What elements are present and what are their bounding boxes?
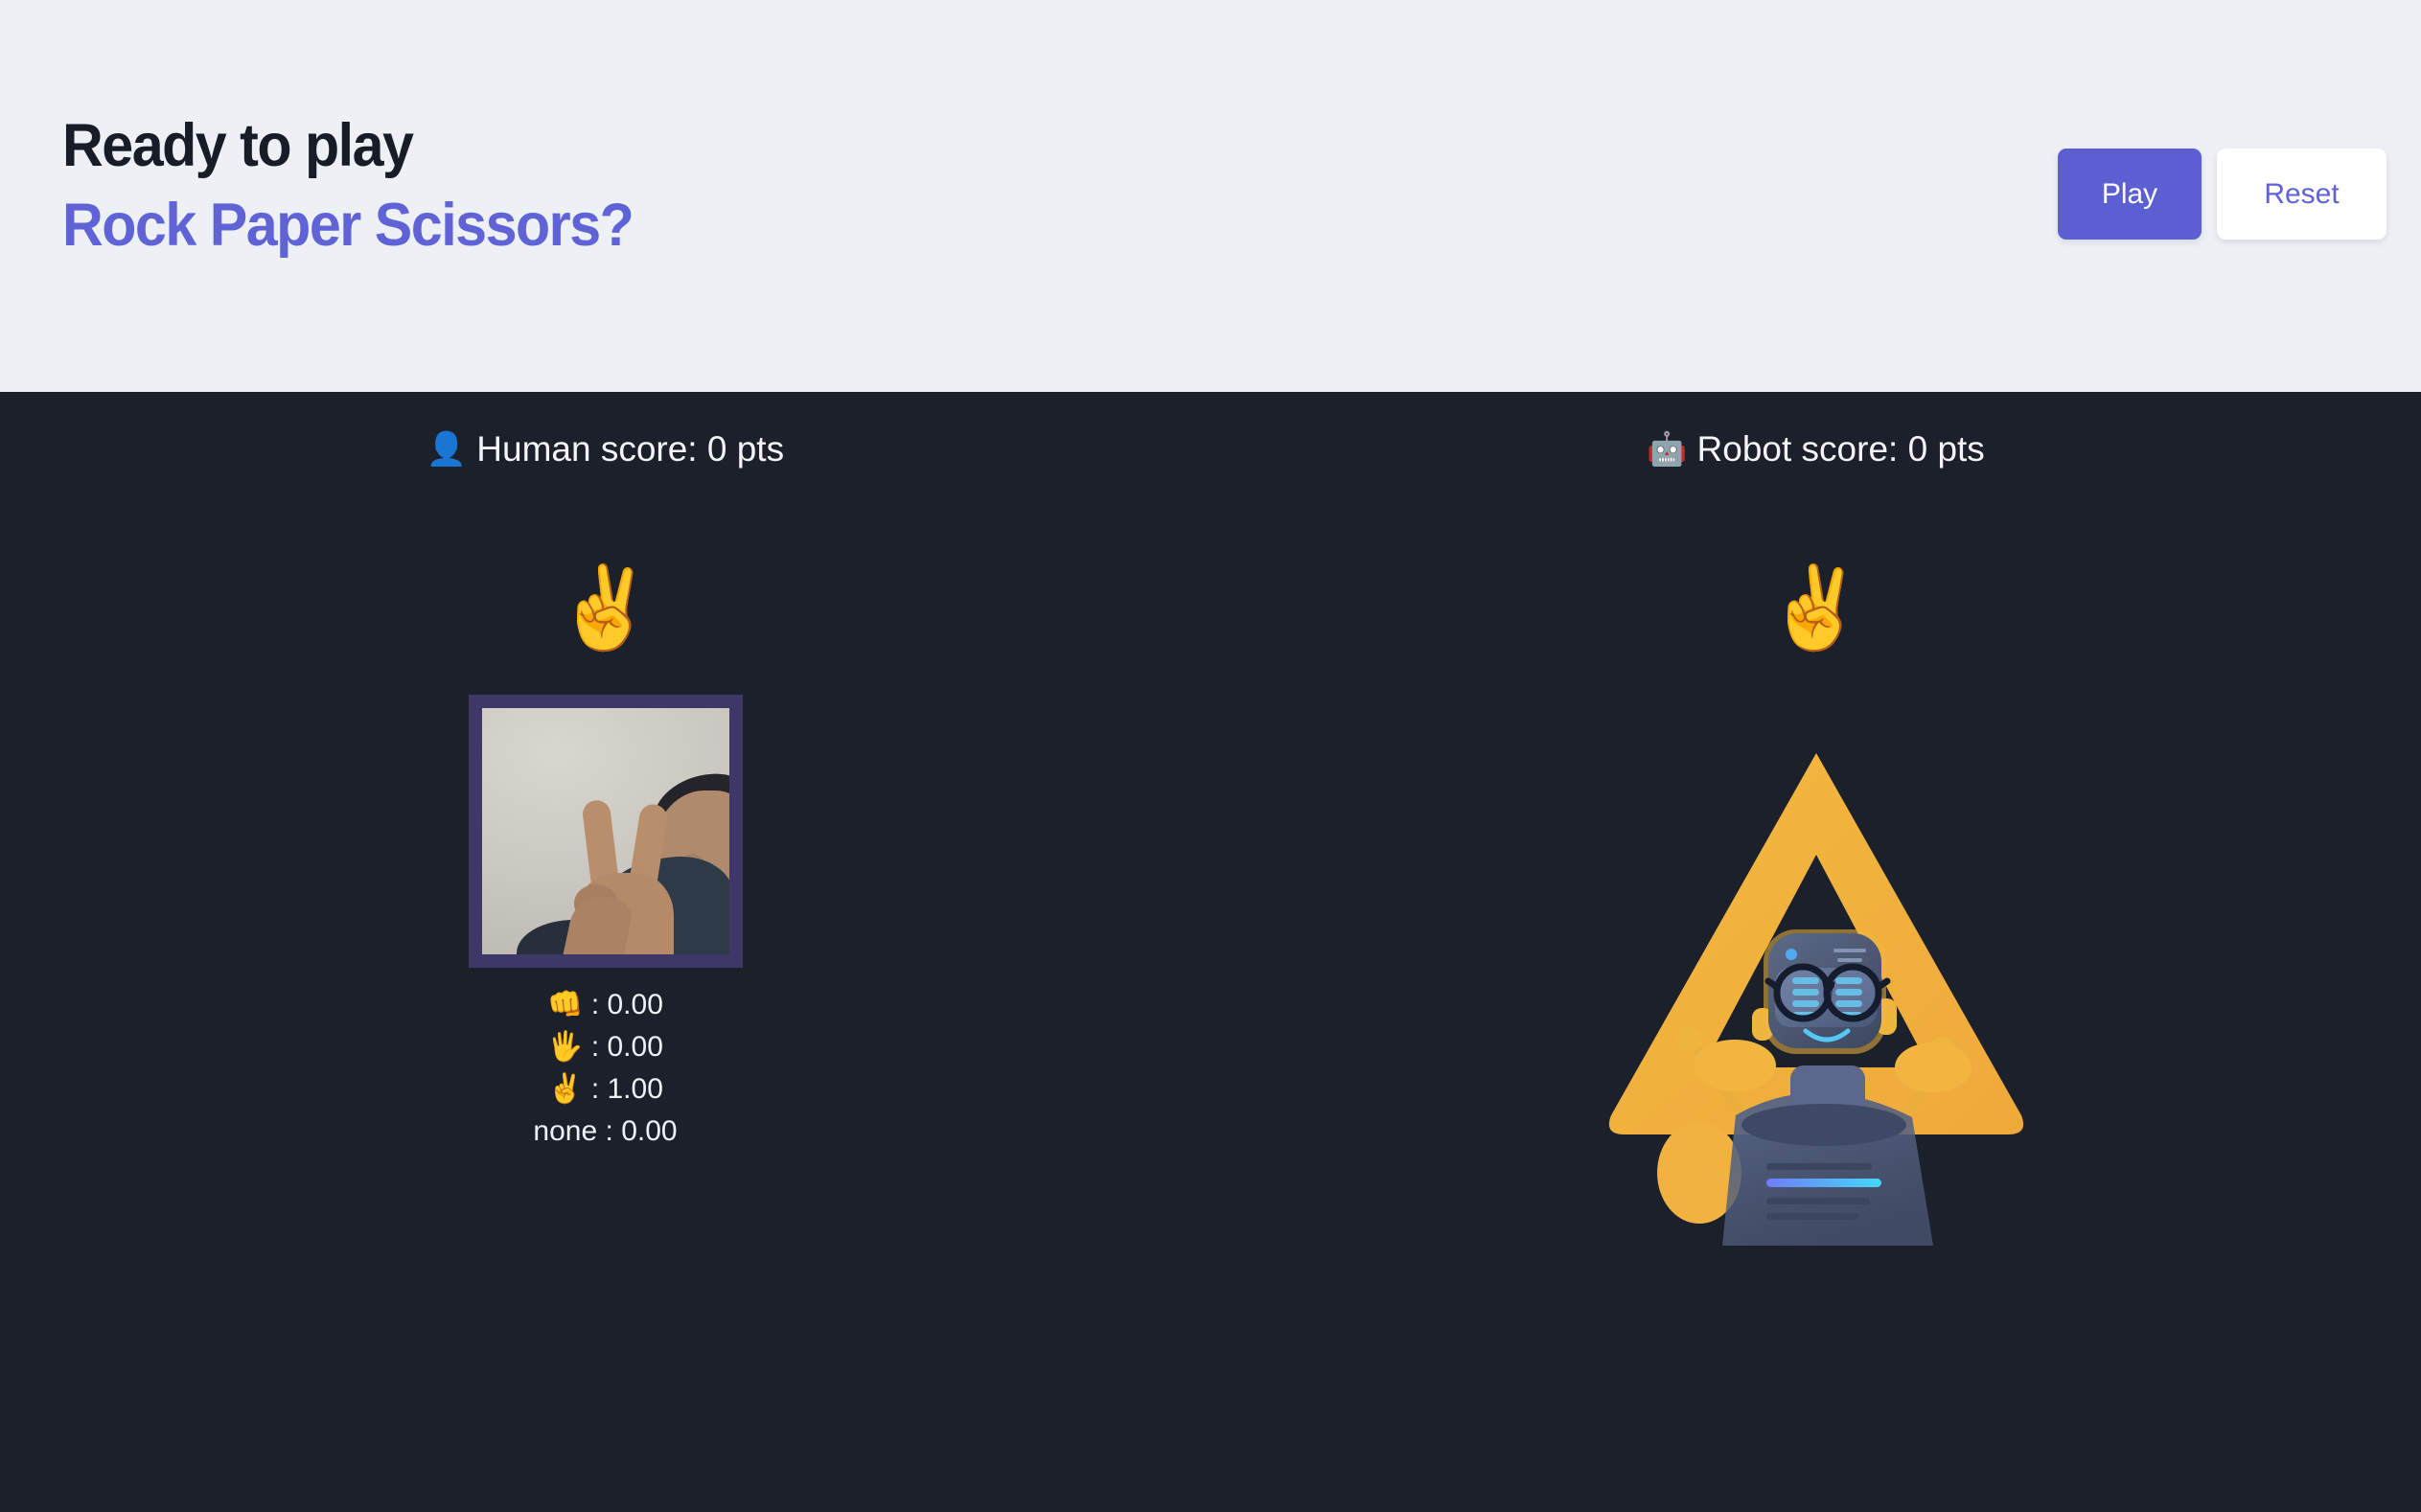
prediction-row: none : 0.00	[533, 1117, 677, 1146]
prediction-value: 0.00	[621, 1115, 677, 1147]
play-button[interactable]: Play	[2058, 149, 2202, 240]
prediction-row: 👊 : 0.00	[533, 991, 677, 1019]
prediction-label: 👊	[547, 989, 583, 1020]
webcam-image	[482, 708, 729, 954]
robot-score: 🤖 Robot score: 0 pts	[1647, 431, 1985, 467]
prediction-value: 1.00	[607, 1073, 662, 1105]
human-score-label: Human score: 0 pts	[476, 431, 784, 467]
human-score: 👤 Human score: 0 pts	[427, 431, 784, 467]
robot-head	[1764, 929, 1887, 1054]
header-actions: Play Reset	[2058, 149, 2386, 240]
robot-icon: 🤖	[1647, 433, 1687, 466]
prediction-list: 👊 : 0.00 🖐 : 0.00 ✌️ : 1.00 none : 0.00	[533, 981, 677, 1146]
page-title: Ready to play Rock Paper Scissors?	[62, 113, 669, 260]
robot-column: 🤖 Robot score: 0 pts ✌️	[1210, 392, 2421, 1512]
robot-mascot-illustration	[1596, 732, 2037, 1249]
human-hand-emoji: ✌️	[555, 567, 656, 648]
title-line-secondary: Rock Paper Scissors?	[62, 193, 633, 259]
prediction-label: none	[533, 1115, 597, 1147]
prediction-value: 0.00	[607, 1031, 662, 1063]
webcam-feed[interactable]	[469, 695, 743, 968]
human-icon: 👤	[427, 433, 467, 466]
game-board: 👤 Human score: 0 pts ✌️ 👊 :	[0, 392, 2421, 1512]
prediction-label: ✌️	[547, 1073, 583, 1105]
prediction-row: ✌️ : 1.00	[533, 1075, 677, 1104]
hand-thumb	[557, 891, 634, 968]
app-header: Ready to play Rock Paper Scissors? Play …	[0, 0, 2421, 392]
prediction-separator: :	[591, 1031, 608, 1063]
robot-hand-emoji: ✌️	[1765, 567, 1866, 648]
prediction-value: 0.00	[607, 989, 662, 1020]
prediction-separator: :	[606, 1115, 622, 1147]
title-line-primary: Ready to play	[62, 113, 633, 179]
prediction-separator: :	[591, 1073, 608, 1105]
reset-button[interactable]: Reset	[2217, 149, 2386, 240]
human-column: 👤 Human score: 0 pts ✌️ 👊 :	[0, 392, 1210, 1512]
robot-score-label: Robot score: 0 pts	[1697, 431, 1985, 467]
prediction-label: 🖐	[547, 1031, 583, 1063]
prediction-separator: :	[591, 989, 608, 1020]
prediction-row: 🖐 : 0.00	[533, 1033, 677, 1062]
